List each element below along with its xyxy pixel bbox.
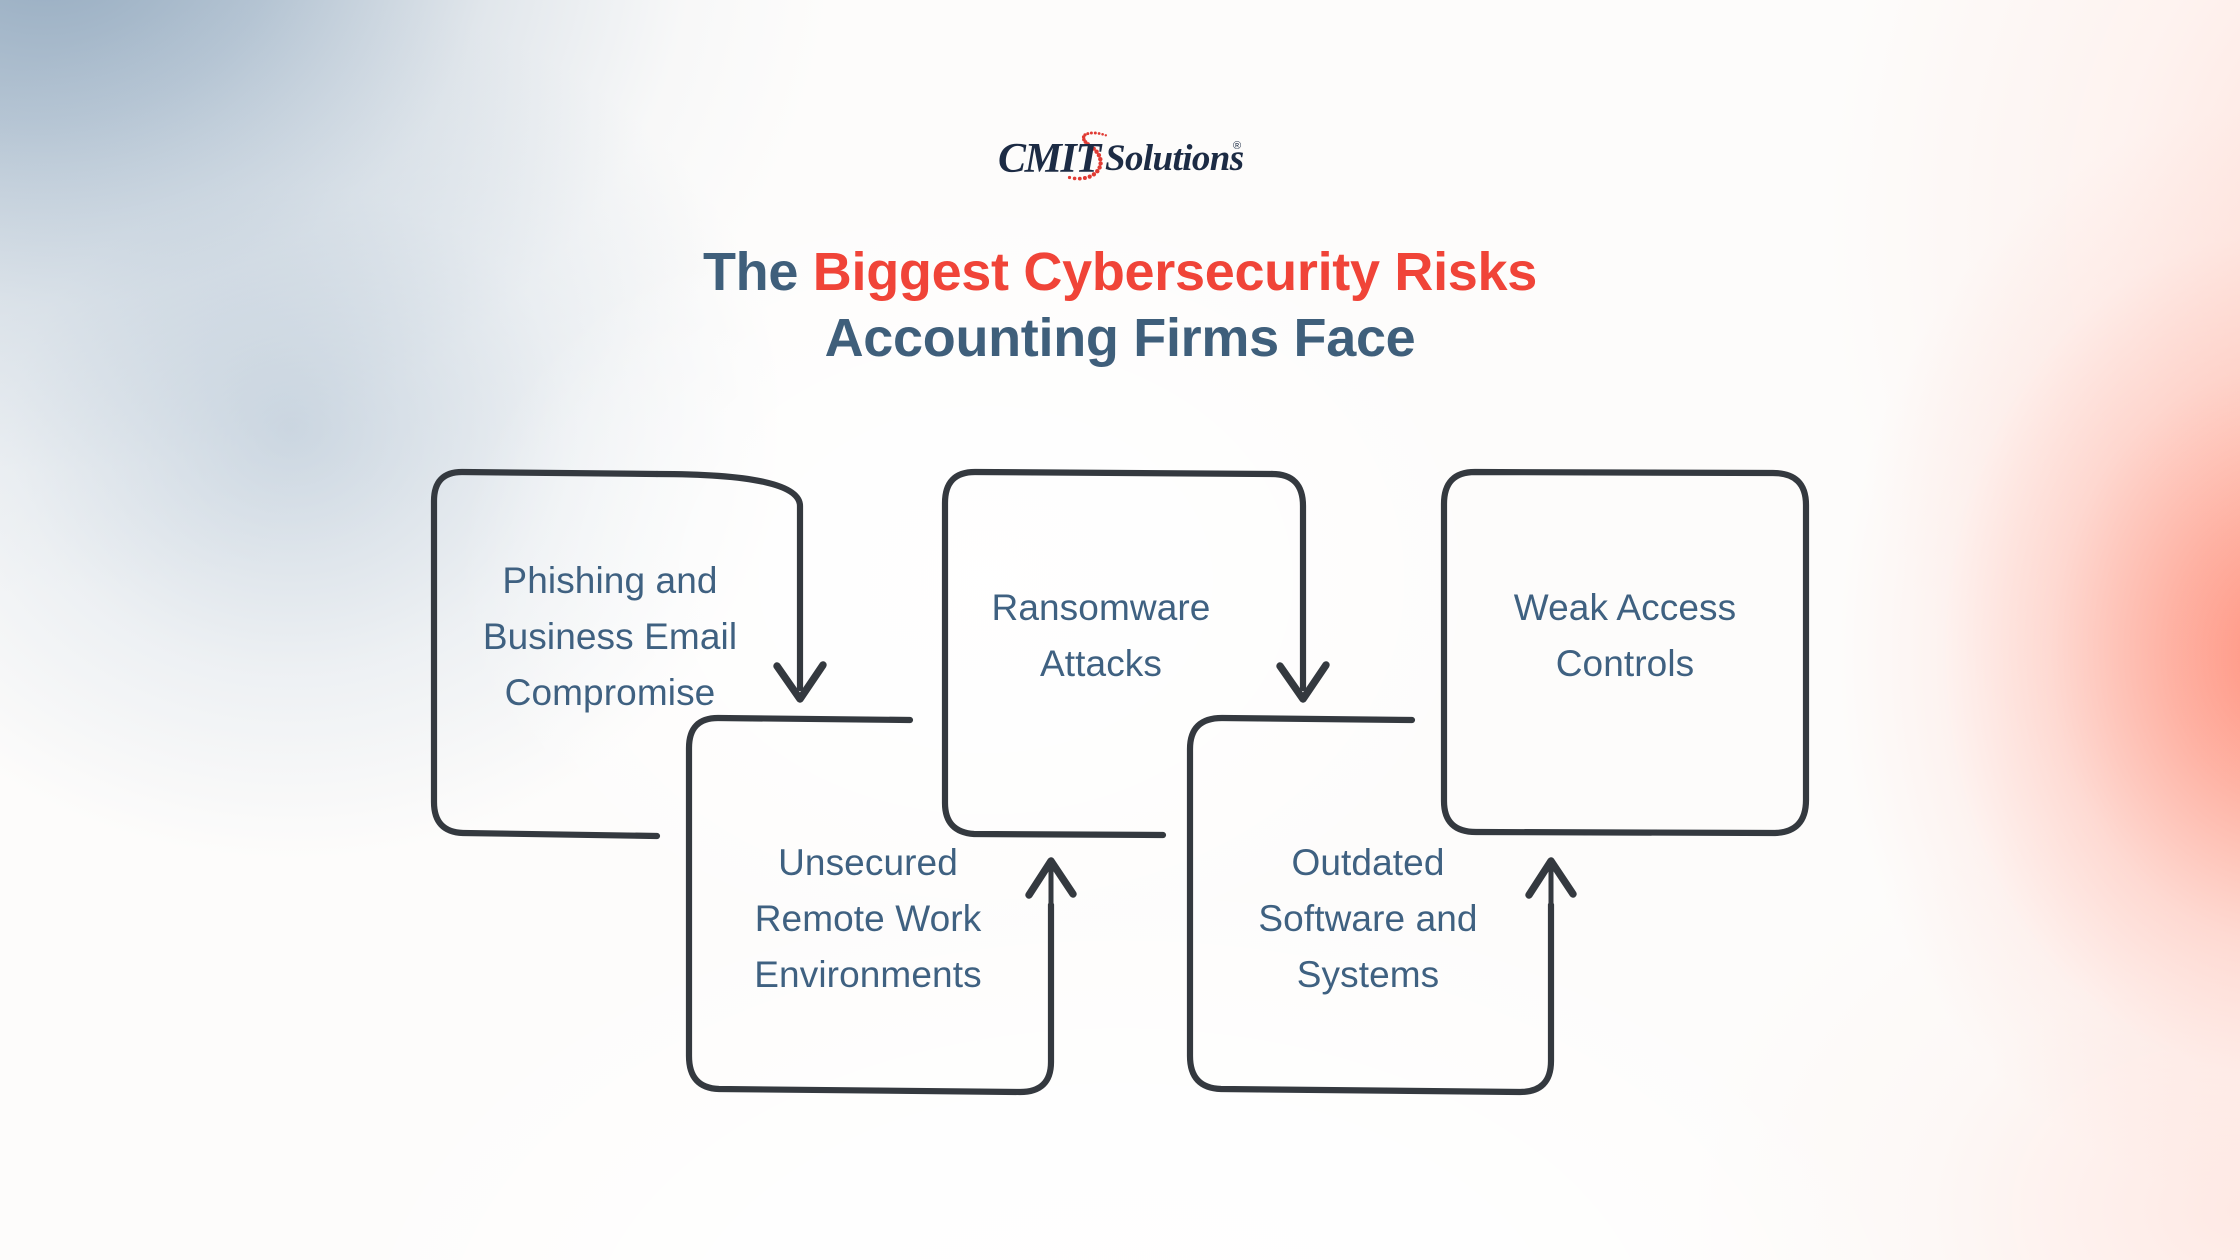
node-3-line-1: Ransomware xyxy=(992,587,1211,628)
node-5-line-2: Controls xyxy=(1556,643,1695,684)
node-5-line-1: Weak Access xyxy=(1514,587,1737,628)
node-1-line-1: Phishing and xyxy=(502,560,717,601)
node-2-line-1: Unsecured xyxy=(778,842,958,883)
node-1-line-2: Business Email xyxy=(483,616,737,657)
flow-node-1[interactable]: Phishing and Business Email Compromise xyxy=(434,472,823,836)
node-3-to-node-4-shaft xyxy=(1272,474,1303,688)
node-4-line-2: Software and xyxy=(1258,898,1477,939)
flow-node-5[interactable]: Weak Access Controls xyxy=(1444,472,1806,833)
flow-node-3[interactable]: Ransomware Attacks xyxy=(945,472,1326,835)
node-2-line-2: Remote Work xyxy=(755,898,982,939)
node-4-line-3: Systems xyxy=(1297,954,1440,995)
node-3-line-2: Attacks xyxy=(1040,643,1162,684)
node-1-line-3: Compromise xyxy=(505,672,716,713)
flow-node-2[interactable]: Unsecured Remote Work Environments xyxy=(689,718,1073,1092)
node-2-line-3: Environments xyxy=(754,954,981,995)
risk-flow-diagram: Phishing and Business Email Compromise U… xyxy=(0,0,2240,1260)
infographic-canvas: CMIT Solutions ® The Biggest Cybersecuri… xyxy=(0,0,2240,1260)
node-4-line-1: Outdated xyxy=(1291,842,1444,883)
flow-node-4[interactable]: Outdated Software and Systems xyxy=(1190,718,1573,1092)
